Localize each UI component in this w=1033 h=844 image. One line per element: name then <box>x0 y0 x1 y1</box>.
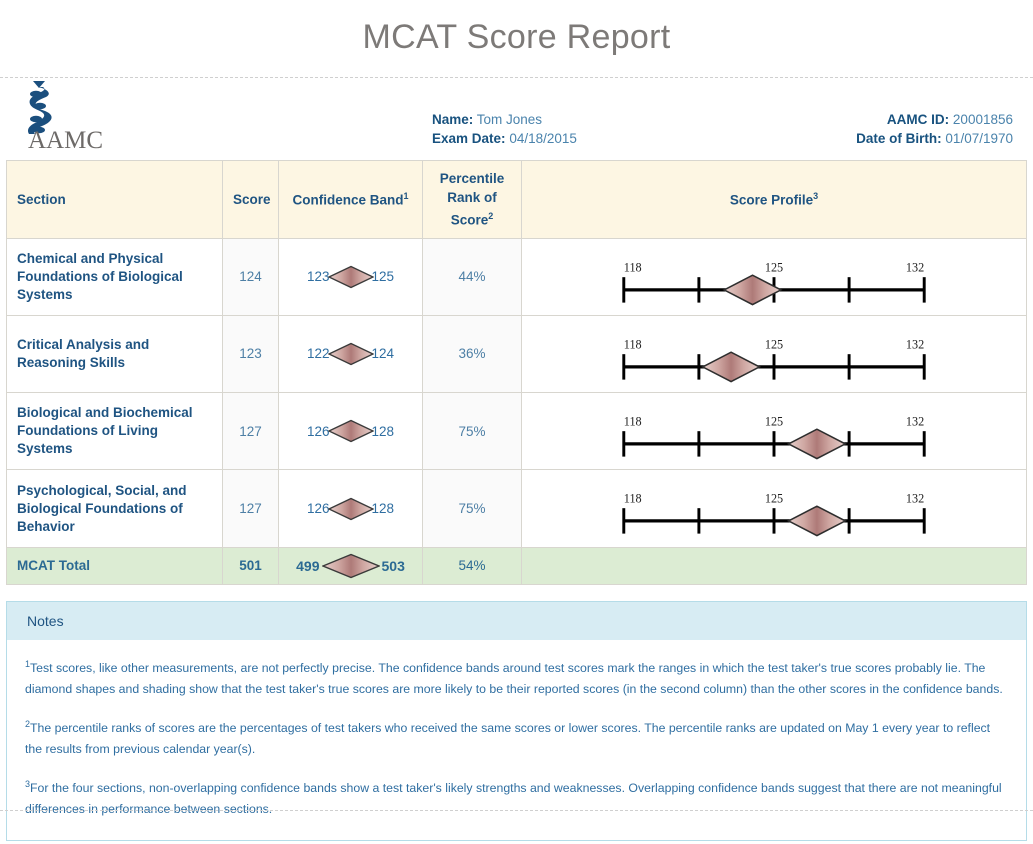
dob-value: 01/07/1970 <box>945 131 1013 146</box>
confidence-band-widget: 126 128 <box>279 419 422 443</box>
row-section-name: Critical Analysis and Reasoning Skills <box>7 315 223 392</box>
name-value: Tom Jones <box>477 112 542 127</box>
footnote-marker-3: 3 <box>813 191 818 201</box>
page-title: MCAT Score Report <box>0 0 1033 77</box>
total-score-profile <box>522 547 1027 584</box>
row-score: 127 <box>223 470 279 547</box>
dob-label: Date of Birth: <box>856 131 942 146</box>
band-high-value: 128 <box>372 502 395 516</box>
row-confidence-band: 126 128 <box>279 470 423 547</box>
axis-tick-label: 125 <box>765 260 783 274</box>
header-percentile-line1: Percentile <box>440 171 505 186</box>
header-score-profile: Score Profile3 <box>522 161 1027 239</box>
axis-tick-label: 132 <box>906 414 924 428</box>
axis-tick-label: 132 <box>906 260 924 274</box>
note-item: 3For the four sections, non-overlapping … <box>25 774 1008 820</box>
score-marker-diamond <box>703 352 760 381</box>
row-percentile: 75% <box>423 470 522 547</box>
total-confidence-band: 499 503 <box>279 547 423 584</box>
confidence-diamond-icon <box>328 265 374 289</box>
total-score: 501 <box>223 547 279 584</box>
row-score: 127 <box>223 393 279 470</box>
total-band-low-value: 499 <box>296 559 319 573</box>
score-profile-chart: 118125132 <box>522 470 1026 546</box>
header-percentile-line2: Rank of <box>447 190 497 205</box>
footer-divider <box>0 810 1033 811</box>
axis-tick-label: 132 <box>906 337 924 351</box>
table-row-total: MCAT Total 501 499 503 54% <box>7 547 1027 584</box>
score-table: Section Score Confidence Band1 Percentil… <box>6 160 1027 585</box>
row-score-profile: 118125132 <box>522 393 1027 470</box>
table-row: Critical Analysis and Reasoning Skills 1… <box>7 315 1027 392</box>
note-item: 1Test scores, like other measurements, a… <box>25 654 1008 700</box>
row-score: 124 <box>223 238 279 315</box>
name-row: Name: Tom Jones <box>432 110 577 129</box>
header-confidence-band-text: Confidence Band <box>292 193 403 208</box>
header-section: Section <box>7 161 223 239</box>
row-confidence-band: 126 128 <box>279 393 423 470</box>
notes-body: 1Test scores, like other measurements, a… <box>7 640 1026 844</box>
note-text: The percentile ranks of scores are the p… <box>25 721 990 756</box>
confidence-band-widget-total: 499 503 <box>279 548 422 584</box>
score-profile-chart: 118125132 <box>522 316 1026 392</box>
confidence-band-widget: 123 125 <box>279 265 422 289</box>
row-section-name: Chemical and Physical Foundations of Bio… <box>7 238 223 315</box>
band-high-value: 124 <box>372 347 395 361</box>
header-percentile-line3: Score <box>451 213 489 228</box>
total-percentile: 54% <box>423 547 522 584</box>
score-marker-diamond <box>789 507 846 536</box>
axis-tick-label: 118 <box>624 414 642 428</box>
exam-date-value: 04/18/2015 <box>509 131 577 146</box>
exam-date-row: Exam Date: 04/18/2015 <box>432 129 577 148</box>
table-row: Biological and Biochemical Foundations o… <box>7 393 1027 470</box>
dob-row: Date of Birth: 01/07/1970 <box>856 129 1013 148</box>
row-percentile: 75% <box>423 393 522 470</box>
score-marker-diamond <box>724 275 781 304</box>
total-section-name: MCAT Total <box>7 547 223 584</box>
axis-tick-label: 132 <box>906 492 924 506</box>
row-section-name: Psychological, Social, and Biological Fo… <box>7 470 223 547</box>
table-row: Psychological, Social, and Biological Fo… <box>7 470 1027 547</box>
axis-tick-label: 125 <box>765 414 783 428</box>
aamc-id-row: AAMC ID: 20001856 <box>856 110 1013 129</box>
band-low-value: 122 <box>307 347 330 361</box>
confidence-diamond-icon <box>328 497 374 521</box>
score-profile-chart: 118125132 <box>522 239 1026 315</box>
axis-tick-label: 118 <box>624 337 642 351</box>
axis-tick-label: 125 <box>765 337 783 351</box>
band-high-value: 125 <box>372 270 395 284</box>
footnote-marker-2: 2 <box>488 211 493 221</box>
score-table-body: Chemical and Physical Foundations of Bio… <box>7 238 1027 584</box>
exam-date-label: Exam Date: <box>432 131 506 146</box>
axis-tick-label: 125 <box>765 492 783 506</box>
header-score-profile-text: Score Profile <box>730 193 813 208</box>
aamc-logo: AAMC <box>14 82 164 152</box>
header-confidence-band: Confidence Band1 <box>279 161 423 239</box>
axis-tick-label: 118 <box>624 260 642 274</box>
confidence-band-widget: 122 124 <box>279 342 422 366</box>
band-high-value: 128 <box>372 425 395 439</box>
row-score-profile: 118125132 <box>522 470 1027 547</box>
confidence-diamond-icon <box>322 553 380 579</box>
row-score: 123 <box>223 315 279 392</box>
band-low-value: 126 <box>307 502 330 516</box>
table-row: Chemical and Physical Foundations of Bio… <box>7 238 1027 315</box>
row-percentile: 36% <box>423 315 522 392</box>
score-table-header: Section Score Confidence Band1 Percentil… <box>7 161 1027 239</box>
identity-left: Name: Tom Jones Exam Date: 04/18/2015 <box>432 110 577 148</box>
score-profile-chart: 118125132 <box>522 393 1026 469</box>
notes-heading: Notes <box>7 602 1026 640</box>
name-label: Name: <box>432 112 473 127</box>
row-confidence-band: 123 125 <box>279 238 423 315</box>
band-low-value: 123 <box>307 270 330 284</box>
row-score-profile: 118125132 <box>522 315 1027 392</box>
identity-right: AAMC ID: 20001856 Date of Birth: 01/07/1… <box>856 110 1013 148</box>
aamc-logo-text: AAMC <box>28 127 103 155</box>
notes-panel: Notes 1Test scores, like other measureme… <box>6 601 1027 841</box>
confidence-band-widget: 126 128 <box>279 497 422 521</box>
axis-tick-label: 118 <box>624 492 642 506</box>
note-text: Test scores, like other measurements, ar… <box>25 661 1003 696</box>
row-percentile: 44% <box>423 238 522 315</box>
report-header: AAMC Name: Tom Jones Exam Date: 04/18/20… <box>0 78 1033 160</box>
identity-block: Name: Tom Jones Exam Date: 04/18/2015 AA… <box>164 110 1019 152</box>
header-row: Section Score Confidence Band1 Percentil… <box>7 161 1027 239</box>
aamc-id-label: AAMC ID: <box>887 112 949 127</box>
header-score: Score <box>223 161 279 239</box>
note-item: 2The percentile ranks of scores are the … <box>25 714 1008 760</box>
aamc-id-value: 20001856 <box>953 112 1013 127</box>
total-band-high-value: 503 <box>382 559 405 573</box>
row-confidence-band: 122 124 <box>279 315 423 392</box>
header-percentile: Percentile Rank of Score2 <box>423 161 522 239</box>
row-section-name: Biological and Biochemical Foundations o… <box>7 393 223 470</box>
band-low-value: 126 <box>307 425 330 439</box>
row-score-profile: 118125132 <box>522 238 1027 315</box>
footnote-marker-1: 1 <box>404 191 409 201</box>
confidence-diamond-icon <box>328 419 374 443</box>
confidence-diamond-icon <box>328 342 374 366</box>
score-marker-diamond <box>789 429 846 458</box>
